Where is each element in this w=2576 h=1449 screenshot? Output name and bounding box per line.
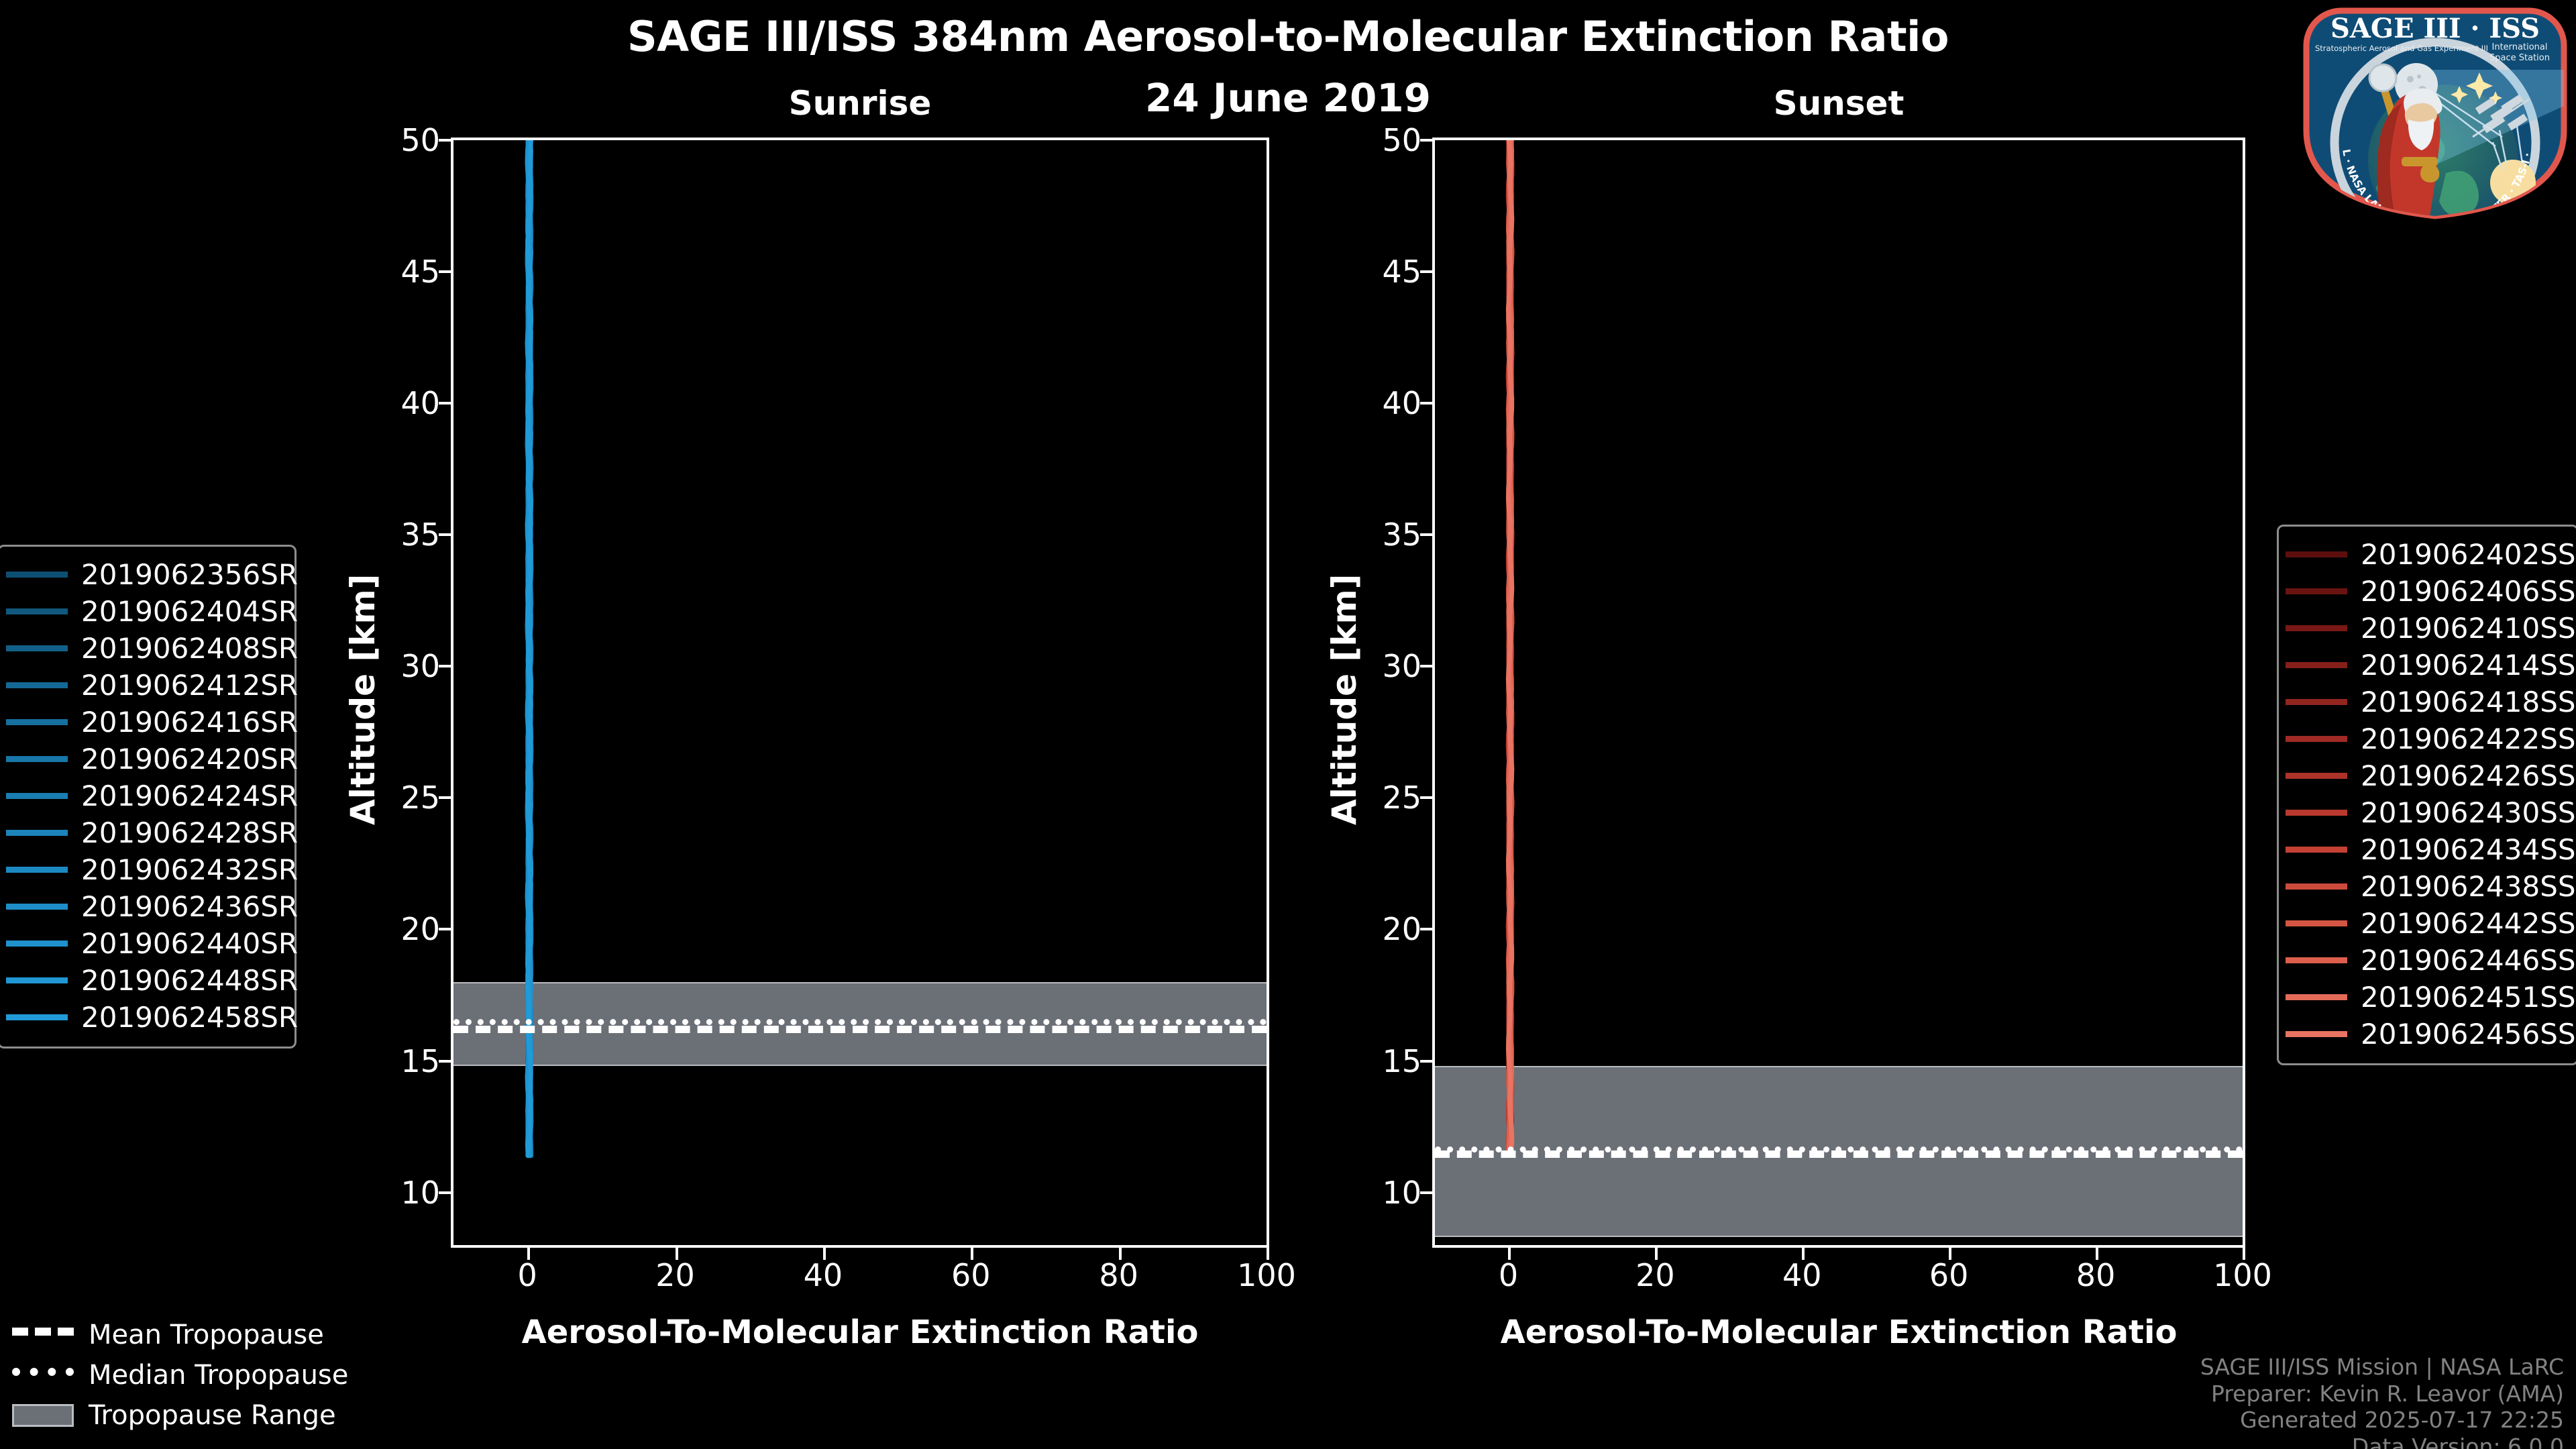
legend-item[interactable]: 2019062436SR: [6, 888, 284, 925]
y-tick-mark: [439, 533, 451, 536]
legend-item[interactable]: 2019062410SS: [2286, 610, 2566, 647]
legend-item-label: 2019062404SR: [81, 595, 298, 628]
panel-label-sunset: Sunset: [1432, 84, 2245, 123]
x-tick-label: 60: [1892, 1257, 2006, 1293]
legend-item[interactable]: 2019062426SS: [2286, 757, 2566, 794]
legend-item[interactable]: 2019062412SR: [6, 667, 284, 704]
legend-color-swatch: [6, 867, 68, 873]
legend-color-swatch: [2286, 588, 2347, 594]
legend-item-label: 2019062420SR: [81, 743, 298, 775]
x-tick-label: 0: [1451, 1257, 1565, 1293]
y-tick-mark: [439, 270, 451, 273]
y-tick-mark: [1420, 665, 1432, 667]
x-tick-mark: [1655, 1248, 1658, 1260]
legend-color-swatch: [2286, 957, 2347, 963]
y-tick-mark: [1420, 533, 1432, 536]
legend-item-label: 2019062446SS: [2361, 944, 2576, 977]
mission-patch-svg: SAGE III · ISS Stratospheric Aerosol and…: [2301, 5, 2569, 220]
legend-item-label: 2019062416SR: [81, 706, 298, 739]
legend-item[interactable]: 2019062432SR: [6, 851, 284, 888]
panel-label-sunrise: Sunrise: [451, 84, 1269, 123]
legend-item-label: 2019062442SS: [2361, 907, 2576, 940]
x-tick-mark: [1119, 1248, 1122, 1260]
x-tick-mark: [2243, 1248, 2245, 1260]
legend-item-label: 2019062432SR: [81, 853, 298, 886]
legend-item-label: 2019062434SS: [2361, 833, 2576, 866]
x-tick-mark: [2096, 1248, 2098, 1260]
legend-item[interactable]: 2019062428SR: [6, 814, 284, 851]
x-tick-mark: [1949, 1248, 1951, 1260]
legend-sunset[interactable]: 2019062402SS2019062406SS2019062410SS2019…: [2277, 525, 2576, 1065]
legend-color-swatch: [6, 941, 68, 947]
legend-item[interactable]: 2019062402SS: [2286, 536, 2566, 573]
legend-item-label: 2019062458SR: [81, 1001, 298, 1034]
y-tick-mark: [1420, 402, 1432, 405]
x-tick-label: 20: [1598, 1257, 1712, 1293]
x-tick-label: 0: [470, 1257, 584, 1293]
legend-color-swatch: [6, 682, 68, 688]
legend-color-swatch: [6, 645, 68, 651]
x-tick-mark: [971, 1248, 973, 1260]
y-tick-label: 25: [1321, 780, 1421, 816]
y-tick-label: 50: [339, 122, 440, 158]
credit-line-preparer: Preparer: Kevin R. Leavor (AMA): [2200, 1381, 2564, 1407]
y-tick-mark: [439, 1060, 451, 1063]
x-tick-label: 40: [766, 1257, 880, 1293]
credit-line-generated: Generated 2025-07-17 22:25: [2200, 1407, 2564, 1434]
x-axis-title-sunrise: Aerosol-To-Molecular Extinction Ratio: [451, 1313, 1269, 1351]
y-tick-mark: [1420, 1191, 1432, 1194]
legend-item-label: 2019062406SS: [2361, 575, 2576, 608]
y-tick-label: 50: [1321, 122, 1421, 158]
y-tick-label: 15: [1321, 1043, 1421, 1079]
legend-item-median-tropopause: Median Tropopause: [12, 1355, 388, 1395]
legend-color-swatch: [6, 1014, 68, 1020]
legend-item-label: 2019062456SS: [2361, 1018, 2576, 1051]
legend-color-swatch: [6, 719, 68, 725]
series-curves: [1435, 140, 2243, 1245]
figure-canvas: SAGE III/ISS 384nm Aerosol-to-Molecular …: [0, 0, 2576, 1449]
legend-item-label: 2019062440SR: [81, 927, 298, 960]
legend-color-swatch: [2286, 736, 2347, 742]
y-tick-mark: [1420, 1060, 1432, 1063]
y-tick-label: 35: [339, 517, 440, 553]
y-tick-label: 45: [1321, 254, 1421, 290]
y-tick-label: 10: [339, 1175, 440, 1211]
legend-color-swatch: [2286, 1031, 2347, 1037]
sage3-iss-mission-patch-logo: SAGE III · ISS Stratospheric Aerosol and…: [2301, 5, 2569, 220]
legend-item[interactable]: 2019062414SS: [2286, 647, 2566, 684]
series-line: [528, 140, 531, 1156]
legend-color-swatch: [6, 608, 68, 614]
legend-item[interactable]: 2019062404SR: [6, 593, 284, 630]
x-tick-label: 20: [619, 1257, 733, 1293]
legend-color-swatch: [6, 793, 68, 799]
mean-tropopause-line: [1435, 1150, 2243, 1158]
x-tick-mark: [1802, 1248, 1805, 1260]
legend-item-label: 2019062408SR: [81, 632, 298, 665]
y-tick-label: 45: [339, 254, 440, 290]
legend-color-swatch: [6, 904, 68, 910]
plot-area-sunrise[interactable]: [451, 138, 1269, 1248]
legend-color-swatch: [2286, 551, 2347, 557]
x-tick-label: 100: [2186, 1257, 2300, 1293]
legend-item[interactable]: 2019062406SS: [2286, 573, 2566, 610]
y-tick-mark: [439, 1191, 451, 1194]
y-tick-label: 40: [339, 385, 440, 421]
legend-item-mean-tropopause: Mean Tropopause: [12, 1315, 388, 1355]
y-tick-mark: [439, 796, 451, 799]
legend-item-label: 2019062426SS: [2361, 759, 2576, 792]
x-axis-title-sunset: Aerosol-To-Molecular Extinction Ratio: [1432, 1313, 2245, 1351]
legend-color-swatch: [2286, 994, 2347, 1000]
legend-item-label: 2019062422SS: [2361, 722, 2576, 755]
legend-item[interactable]: 2019062430SS: [2286, 794, 2566, 831]
legend-item-label: 2019062428SR: [81, 816, 298, 849]
y-tick-label: 40: [1321, 385, 1421, 421]
credit-line-mission: SAGE III/ISS Mission | NASA LaRC: [2200, 1354, 2564, 1381]
patch-subtitle-right-2: Space Station: [2489, 53, 2550, 63]
legend-item[interactable]: 2019062442SS: [2286, 905, 2566, 942]
x-tick-label: 80: [2039, 1257, 2153, 1293]
plot-area-sunset[interactable]: [1432, 138, 2245, 1248]
legend-color-swatch: [2286, 699, 2347, 705]
legend-item-label: 2019062438SS: [2361, 870, 2576, 903]
patch-subtitle-right-1: International: [2492, 42, 2548, 52]
mean-tropopause-line: [453, 1026, 1267, 1033]
legend-item-label: 2019062356SR: [81, 558, 298, 591]
legend-item[interactable]: 2019062420SR: [6, 741, 284, 777]
x-tick-label: 80: [1062, 1257, 1176, 1293]
y-tick-mark: [1420, 139, 1432, 142]
patch-title: SAGE III · ISS: [2330, 13, 2540, 44]
dashed-line-icon: [12, 1328, 74, 1342]
credits-block: SAGE III/ISS Mission | NASA LaRC Prepare…: [2200, 1354, 2564, 1449]
y-tick-label: 10: [1321, 1175, 1421, 1211]
x-tick-mark: [823, 1248, 826, 1260]
y-tick-label: 35: [1321, 517, 1421, 553]
legend-item-label: 2019062412SR: [81, 669, 298, 702]
patch-subtitle-left: Stratospheric Aerosol and Gas Experiment…: [2315, 44, 2488, 53]
legend-color-swatch: [2286, 810, 2347, 816]
legend-item[interactable]: 2019062434SS: [2286, 831, 2566, 868]
legend-color-swatch: [2286, 625, 2347, 631]
legend-item-label: 2019062448SR: [81, 964, 298, 997]
legend-color-swatch: [2286, 847, 2347, 853]
y-tick-mark: [1420, 270, 1432, 273]
y-tick-label: 30: [1321, 648, 1421, 684]
legend-item[interactable]: 2019062416SR: [6, 704, 284, 741]
y-tick-mark: [439, 928, 451, 930]
legend-color-swatch: [6, 977, 68, 983]
y-tick-label: 30: [339, 648, 440, 684]
x-tick-mark: [527, 1248, 530, 1260]
legend-item[interactable]: 2019062418SS: [2286, 684, 2566, 720]
y-tick-label: 15: [339, 1043, 440, 1079]
legend-color-swatch: [6, 572, 68, 578]
legend-item[interactable]: 2019062424SR: [6, 777, 284, 814]
legend-color-swatch: [2286, 773, 2347, 779]
legend-color-swatch: [6, 830, 68, 836]
legend-item-label: 2019062451SS: [2361, 981, 2576, 1014]
legend-label-mean: Mean Tropopause: [89, 1320, 324, 1350]
legend-item[interactable]: 2019062448SR: [6, 962, 284, 999]
legend-item[interactable]: 2019062438SS: [2286, 868, 2566, 905]
legend-item-label: 2019062436SR: [81, 890, 298, 923]
page-title: SAGE III/ISS 384nm Aerosol-to-Molecular …: [0, 12, 2576, 61]
y-tick-mark: [1420, 796, 1432, 799]
legend-label-range: Tropopause Range: [89, 1400, 336, 1431]
y-tick-label: 25: [339, 780, 440, 816]
legend-color-swatch: [2286, 883, 2347, 890]
legend-label-median: Median Tropopause: [89, 1360, 348, 1391]
x-tick-mark: [1508, 1248, 1511, 1260]
series-line: [1508, 140, 1511, 1150]
legend-color-swatch: [2286, 662, 2347, 668]
y-tick-label: 20: [1321, 911, 1421, 947]
filled-box-icon: [12, 1404, 74, 1427]
y-tick-mark: [439, 665, 451, 667]
legend-item[interactable]: 2019062440SR: [6, 925, 284, 962]
credit-line-version: Data Version: 6.0.0: [2200, 1434, 2564, 1449]
tropopause-legend: Mean Tropopause Median Tropopause Tropop…: [12, 1315, 388, 1436]
legend-item[interactable]: 2019062446SS: [2286, 942, 2566, 979]
series-curves: [453, 140, 1267, 1245]
x-tick-mark: [1267, 1248, 1269, 1260]
legend-item[interactable]: 2019062456SS: [2286, 1016, 2566, 1053]
dotted-line-icon: [12, 1368, 74, 1383]
legend-item[interactable]: 2019062408SR: [6, 630, 284, 667]
legend-item-label: 2019062414SS: [2361, 649, 2576, 682]
legend-item-label: 2019062418SS: [2361, 686, 2576, 718]
y-tick-mark: [439, 402, 451, 405]
legend-item-label: 2019062410SS: [2361, 612, 2576, 645]
legend-item[interactable]: 2019062356SR: [6, 556, 284, 593]
legend-item[interactable]: 2019062422SS: [2286, 720, 2566, 757]
legend-item[interactable]: 2019062451SS: [2286, 979, 2566, 1016]
y-tick-mark: [439, 139, 451, 142]
x-tick-label: 40: [1745, 1257, 1859, 1293]
legend-sunrise[interactable]: 2019062356SR2019062404SR2019062408SR2019…: [0, 545, 297, 1049]
median-tropopause-line: [453, 1019, 1267, 1025]
legend-item-label: 2019062424SR: [81, 780, 298, 812]
legend-item[interactable]: 2019062458SR: [6, 999, 284, 1036]
x-tick-label: 60: [914, 1257, 1028, 1293]
legend-item-label: 2019062402SS: [2361, 538, 2576, 571]
y-tick-label: 20: [339, 911, 440, 947]
x-tick-mark: [676, 1248, 678, 1260]
legend-color-swatch: [2286, 920, 2347, 926]
legend-item-label: 2019062430SS: [2361, 796, 2576, 829]
legend-color-swatch: [6, 756, 68, 762]
y-tick-mark: [1420, 928, 1432, 930]
legend-item-tropopause-range: Tropopause Range: [12, 1395, 388, 1436]
x-tick-label: 100: [1210, 1257, 1324, 1293]
